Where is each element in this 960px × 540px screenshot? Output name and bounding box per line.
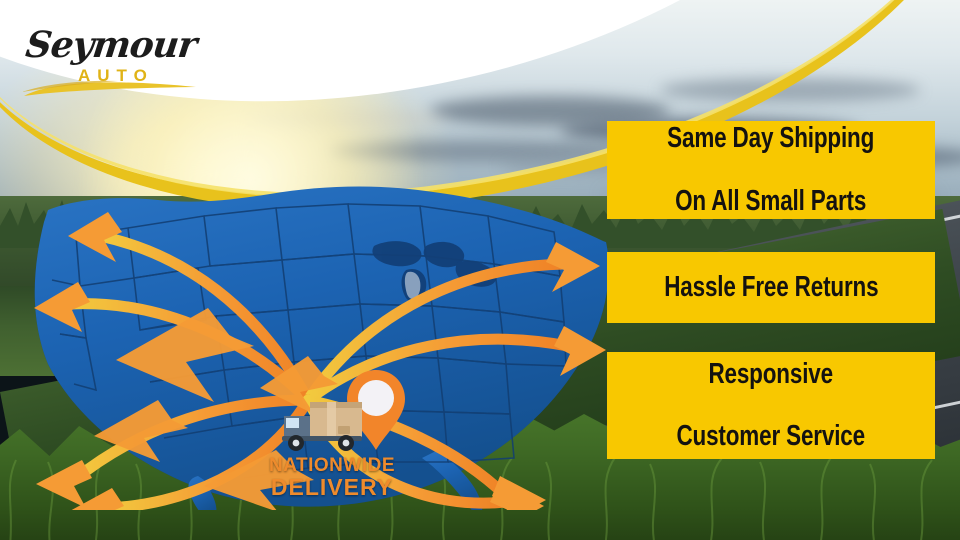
feature-line1: Hassle Free Returns	[664, 272, 878, 303]
feature-text: Responsive Customer Service	[664, 359, 878, 452]
feature-box-same-day-shipping[interactable]: Same Day Shipping On All Small Parts	[607, 121, 935, 219]
feature-text: Same Day Shipping On All Small Parts	[653, 123, 888, 216]
feature-line1: Responsive	[677, 359, 866, 390]
nationwide-line2: DELIVERY	[260, 476, 404, 500]
feature-line2: Customer Service	[677, 421, 866, 452]
feature-line1: Same Day Shipping	[667, 123, 874, 154]
delivery-truck-icon	[280, 398, 372, 454]
nationwide-delivery-label: NATIONWIDE DELIVERY	[260, 456, 404, 499]
nationwide-line1: NATIONWIDE	[260, 456, 404, 476]
feature-box-responsive-customer-service[interactable]: Responsive Customer Service	[607, 352, 935, 459]
feature-line2: On All Small Parts	[667, 186, 874, 217]
logo-swash-icon	[22, 78, 198, 100]
feature-box-hassle-free-returns[interactable]: Hassle Free Returns	[607, 252, 935, 323]
brand-name: Seymour	[23, 24, 198, 66]
promo-banner: Seymour AUTO	[0, 0, 960, 540]
brand-logo[interactable]: Seymour AUTO	[16, 14, 216, 94]
feature-text: Hassle Free Returns	[649, 272, 892, 303]
us-delivery-map: NATIONWIDE DELIVERY	[8, 150, 648, 510]
